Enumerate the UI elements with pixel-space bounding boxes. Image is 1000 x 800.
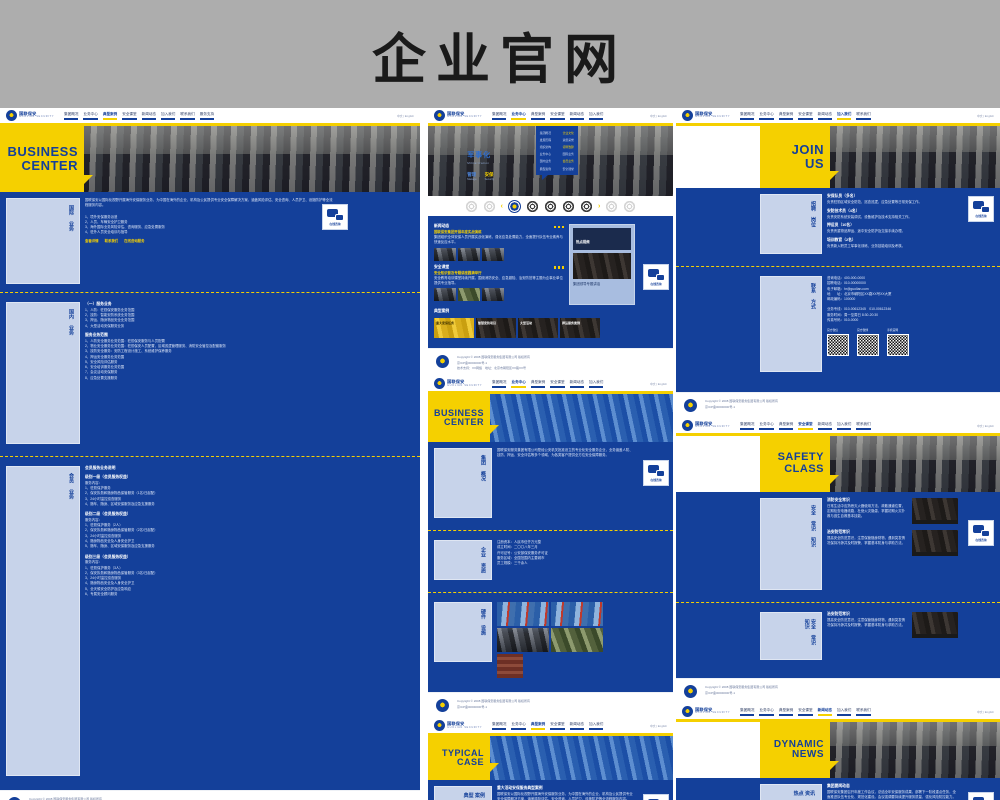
side-title: 国内 业务 bbox=[68, 309, 74, 335]
brand-subtitle: GUOLIAN SECURITY bbox=[695, 426, 730, 429]
chat-widget[interactable]: 在线咨询 bbox=[968, 196, 994, 222]
video-thumbnail[interactable] bbox=[573, 253, 631, 279]
chat-widget[interactable]: 在线咨询 bbox=[968, 792, 994, 800]
video-thumbnail[interactable]: 安全知识专题讲座 bbox=[912, 530, 958, 556]
hero-tab-line2: CENTER bbox=[22, 159, 78, 173]
footer: Copyright © 2008 国联保安服务集团有限公司 版权所有 京ICP备… bbox=[428, 348, 673, 376]
section-heading: 会员服务业务说明 bbox=[85, 466, 414, 472]
section-safety-articles: 在线咨询 安全 常识 知识 消防安全常识 日常生活中应熟悉灭火器使用方法、疏散通… bbox=[676, 492, 1000, 600]
news-section-title: 典型案例 bbox=[434, 309, 667, 315]
nav-item-4[interactable]: 新闻动态 bbox=[570, 112, 584, 120]
field-label: 传真号码 bbox=[827, 318, 841, 322]
nav-item-0[interactable]: 集团概况 bbox=[492, 380, 506, 388]
hero-tab-dynamic-news: DYNAMIC NEWS bbox=[760, 722, 830, 778]
nav-item-7[interactable]: 服务支持 bbox=[200, 112, 214, 120]
nav-item-5[interactable]: 加入我们 bbox=[161, 112, 175, 120]
emblem-badge-icon[interactable] bbox=[605, 200, 618, 213]
section-paragraph: 国联保安服务集团有限公司是经公安机关批准设立的专业化安全服务企业，业务涵盖人防、… bbox=[497, 448, 635, 459]
list-item: 6、专属安全顾问服务 bbox=[85, 592, 414, 597]
nav-item-4[interactable]: 新闻动态 bbox=[818, 708, 832, 716]
nav-item-4[interactable]: 新闻动态 bbox=[142, 112, 156, 120]
qr-code-image bbox=[827, 334, 849, 356]
nav-item-4[interactable]: 新闻动态 bbox=[570, 380, 584, 388]
chat-widget-label: 在线咨询 bbox=[975, 538, 986, 542]
nav-item-6[interactable]: 联系我们 bbox=[180, 112, 194, 120]
footer-icp: 京ICP备00000000号-1 bbox=[457, 705, 530, 709]
nav-item-5[interactable]: 加入我们 bbox=[837, 708, 851, 716]
qr-code-image bbox=[857, 334, 879, 356]
qr-block: 官方微博 bbox=[857, 328, 879, 356]
hero-image-tactical bbox=[830, 722, 1000, 778]
news-item-text: 集团组织全体安保人员开展实战化演练，强化应急处置能力，全面提升队伍专业素养与快速… bbox=[434, 235, 564, 246]
navbar: 国联保安 GUOLIAN SECURITY 集团概况 业务中心 典型案例 安全课… bbox=[676, 108, 1000, 126]
hero-banner: TYPICAL CASE bbox=[428, 736, 673, 780]
mockup-sheet: 企业官网 国联保安 GUOLIAN SECURITY 集团概况 业务中心 典型案… bbox=[0, 0, 1000, 800]
nav-item-4[interactable]: 新闻动态 bbox=[570, 722, 584, 730]
dropdown-item[interactable]: 国内业务 bbox=[540, 159, 551, 163]
dropdown-item[interactable]: 资质荣誉 bbox=[563, 138, 574, 142]
dropdown-item[interactable]: 国际业务 bbox=[563, 152, 574, 156]
section-divider bbox=[0, 290, 420, 296]
hero-tab-business-center: BUSINESS CENTER bbox=[0, 126, 84, 192]
chat-widget[interactable]: 在线咨询 bbox=[968, 520, 994, 546]
gallery-photo[interactable] bbox=[551, 628, 603, 652]
nav-item-0[interactable]: 集团概况 bbox=[492, 722, 506, 730]
mockup-column-3: 国联保安 GUOLIAN SECURITY 集团概况 业务中心 典型案例 安全课… bbox=[676, 108, 1000, 800]
section-divider bbox=[676, 264, 1000, 270]
facility-gallery bbox=[497, 602, 605, 678]
nav-item-5[interactable]: 加入我们 bbox=[589, 722, 603, 730]
chat-bubbles-icon bbox=[973, 201, 990, 213]
section-typical-case: 在线咨询 典型 案例 重大活动安保 金融押运服务案例 智慧安防工程案例 大型场馆… bbox=[428, 780, 673, 800]
footer: Copyright © 2008 国联保安服务集团有限公司 版权所有 京ICP备… bbox=[676, 678, 1000, 704]
hero-tab-line2: CENTER bbox=[444, 418, 484, 427]
hero-tab-typical-case: TYPICAL CASE bbox=[428, 736, 490, 780]
field-value: 400-000-0000 bbox=[844, 276, 865, 280]
home-content: 在线咨询 新闻动态 国联保安集团开展年度实战演练 集团组织全体安保人员开展实战化… bbox=[428, 218, 673, 348]
nav-item-1[interactable]: 业务中心 bbox=[511, 722, 525, 730]
nav-item-2[interactable]: 典型案例 bbox=[779, 708, 793, 716]
nav-item-5[interactable]: 加入我们 bbox=[837, 112, 851, 120]
chat-widget[interactable]: 在线咨询 bbox=[643, 460, 669, 486]
footer: Copyright © 2008 国联保安服务集团有限公司 版权所有 京ICP备… bbox=[0, 790, 420, 800]
field-label: 招聘电话 bbox=[827, 281, 841, 285]
news-thumbnail[interactable] bbox=[434, 248, 456, 261]
tag-link[interactable]: 联系我们 bbox=[105, 239, 119, 244]
hero-banner: BUSINESS CENTER bbox=[0, 126, 420, 192]
brand-subtitle: GUOLIAN SECURITY bbox=[695, 712, 730, 715]
nav-dropdown-menu[interactable]: 集团概况企业文化 发展历程资质荣誉 组织架构领导致辞 业务中心国际业务 国内业务… bbox=[536, 126, 578, 175]
gallery-photo[interactable] bbox=[497, 654, 523, 678]
field-label: 员工规模 bbox=[497, 561, 511, 565]
job-description: 负责新入职员工军事化训练、业务技能培训及考核。 bbox=[827, 244, 958, 249]
hero-word-2-en: Security bbox=[485, 178, 494, 181]
job-listing[interactable]: 安保队员（多名） 负责驻勤区域安全防范、巡查巡逻、应急处置等日常安保工作。 bbox=[827, 194, 958, 205]
hero-image-team bbox=[830, 126, 1000, 188]
dropdown-item[interactable]: 领导致辞 bbox=[563, 145, 574, 149]
hero-caption: 军事化 Militarization 管理 Manage 安保 Security bbox=[467, 150, 494, 181]
nav-item-3[interactable]: 安全课堂 bbox=[798, 422, 812, 430]
shield-star-logo-icon bbox=[434, 110, 445, 121]
field-value: 010-0000 bbox=[844, 318, 858, 322]
footer-icp: 京ICP备00000000号-1 bbox=[705, 691, 778, 695]
emblem-badge-icon[interactable] bbox=[465, 200, 478, 213]
nav-items: 集团概况 业务中心 典型案例 安全课堂 新闻动态 加入我们 联系我们 服务支持 bbox=[64, 112, 397, 120]
job-listing[interactable]: 培训教官（2名） 负责新入职员工军事化训练、业务技能培训及考核。 bbox=[827, 238, 958, 249]
chat-widget[interactable]: 在线咨询 bbox=[643, 794, 669, 800]
case-tile[interactable]: 大型活动 bbox=[518, 318, 558, 338]
section-recruitment: 在线咨询 招聘 岗位 安保队员（多名） 负责驻勤区域安全防范、巡查巡逻、应急处置… bbox=[676, 188, 1000, 264]
sheet-header-banner: 企业官网 bbox=[0, 0, 1000, 108]
carousel-prev-icon[interactable]: ‹ bbox=[501, 203, 503, 210]
nav-item-0[interactable]: 集团概况 bbox=[492, 112, 506, 120]
list-item: 5、随车、随身、区域安保服务及应急支援服务 bbox=[85, 544, 414, 549]
hero-banner: DYNAMIC NEWS bbox=[676, 722, 1000, 778]
language-switch[interactable]: 中文 | English bbox=[977, 114, 994, 118]
article-text: 国联保安集团召开年度工作会议，总结全年安保服务成果，部署下一阶段重点任务，全面推… bbox=[827, 790, 958, 800]
side-title-box: 招聘 岗位 bbox=[760, 194, 822, 254]
section-membership-business: 会员 业务 会员服务业务说明 级别一级（会员服务权益） 服务内容： 1、驻勤保护… bbox=[0, 460, 420, 790]
chat-bubbles-icon bbox=[648, 269, 665, 281]
nav-item-2[interactable]: 典型案例 bbox=[531, 380, 545, 388]
article-paragraph: 国联保安以国际化视野开展海外安保服务业务，为中国在海外的企业、机构及公民提供专业… bbox=[497, 792, 635, 800]
news-thumbnail[interactable] bbox=[482, 288, 504, 301]
news-block: 新闻动态 国联保安集团开展年度实战演练 集团组织全体安保人员开展实战化演练，强化… bbox=[434, 224, 564, 261]
hero-caption-main: 军事化 bbox=[467, 150, 494, 160]
brand-logo[interactable]: 国联保安 GUOLIAN SECURITY bbox=[682, 420, 730, 431]
footer-copyright: Copyright © 2008 国联保安服务集团有限公司 版权所有 bbox=[457, 699, 530, 703]
nav-item-1[interactable]: 业务中心 bbox=[759, 708, 773, 716]
hero-image-guards bbox=[84, 126, 420, 192]
hero-tab-line2: CASE bbox=[457, 758, 484, 767]
case-tile-label: 大型活动 bbox=[520, 321, 532, 325]
footer-support: 技术支持：XX网络 地址：北京市朝阳区XX路XX号 bbox=[457, 366, 530, 370]
nav-item-0[interactable]: 集团概况 bbox=[64, 112, 78, 120]
brand-logo[interactable]: 国联保安 GUOLIAN SECURITY bbox=[6, 110, 54, 121]
section-paragraph: 国联保安以国际化视野开展海外安保服务业务，为中国在海外的企业、机构及公民提供专业… bbox=[85, 198, 334, 209]
nav-item-5[interactable]: 加入我们 bbox=[837, 422, 851, 430]
field-value: 010-00000000 bbox=[844, 281, 866, 285]
navbar: 国联保安 GUOLIAN SECURITY 集团概况 业务中心 典型案例 安全课… bbox=[428, 376, 673, 394]
language-switch[interactable]: 中文 | English bbox=[650, 724, 667, 728]
footer: Copyright © 2008 国联保安服务集团有限公司 版权所有 京ICP备… bbox=[428, 692, 673, 718]
shield-star-logo-icon bbox=[682, 420, 693, 431]
nav-item-5[interactable]: 加入我们 bbox=[589, 112, 603, 120]
gallery-photo[interactable] bbox=[551, 602, 603, 626]
case-tile[interactable]: 重大安保任务 bbox=[434, 318, 474, 338]
tag-link[interactable]: 在线咨询服务 bbox=[124, 239, 144, 244]
footer-logo-icon bbox=[436, 699, 449, 712]
field-value: 全国范围内主要城市 bbox=[514, 556, 545, 560]
section-contact: 联系 方式 咨询电话：400-000-0000 招聘电话：010-0000000… bbox=[676, 270, 1000, 392]
video-thumbnail[interactable] bbox=[912, 498, 958, 524]
footer-copyright: Copyright © 2008 国联保安服务集团有限公司 版权所有 bbox=[705, 685, 778, 689]
shield-star-logo-icon bbox=[434, 378, 445, 389]
hero-tab-line2: US bbox=[805, 157, 824, 171]
job-listing[interactable]: 押运员（10名） 负责贵重物品押运、途中安全防护及交接手续办理。 bbox=[827, 223, 958, 234]
chat-widget-label: 在线咨询 bbox=[975, 214, 986, 218]
case-tile[interactable]: 智慧安防项目 bbox=[476, 318, 516, 338]
nav-item-3[interactable]: 安全课堂 bbox=[550, 380, 564, 388]
nav-item-2[interactable]: 典型案例 bbox=[531, 112, 545, 120]
list-item: 4、驻外人员安全培训与指导 bbox=[85, 230, 334, 235]
news-side-menu: 热点 资讯 集团要闻动态 行业资讯 通知公告信息 媒体报道专题 党建工作 bbox=[760, 784, 822, 800]
nav-item-1[interactable]: 业务中心 bbox=[759, 422, 773, 430]
article-text: 日常生活中应熟悉灭火器使用方法、疏散通道位置，定期检查电器线路，杜绝火灾隐患，掌… bbox=[827, 504, 907, 520]
side-title: 集团 概况 bbox=[480, 455, 486, 481]
nav-item-2[interactable]: 典型案例 bbox=[779, 112, 793, 120]
field-value: 北京市朝阳区XX路XX号XX大厦 bbox=[844, 292, 891, 296]
section-facilities: 硬件 设施 bbox=[428, 596, 673, 692]
video-thumbnail[interactable] bbox=[912, 612, 958, 638]
job-description: 负责安防系统安装调试、设备维护及技术支持相关工作。 bbox=[827, 215, 958, 220]
nav-item-1[interactable]: 业务中心 bbox=[511, 380, 525, 388]
chat-widget-label: 在线咨询 bbox=[650, 282, 661, 286]
qr-block: 官方微信 bbox=[827, 328, 849, 356]
gallery-photo[interactable] bbox=[497, 628, 549, 652]
dropdown-item[interactable]: 发展历程 bbox=[540, 138, 551, 142]
footer-icp: 京ICP备00000000号-1 bbox=[457, 361, 530, 365]
job-listing[interactable]: 安防技术员（4名） 负责安防系统安装调试、设备维护及技术支持相关工作。 bbox=[827, 209, 958, 220]
news-section-title: 安全课堂 bbox=[434, 265, 449, 271]
field-label: 许可证号 bbox=[497, 551, 511, 555]
dropdown-item[interactable]: 业务中心 bbox=[540, 152, 551, 156]
emblem-badge-icon-active[interactable] bbox=[508, 200, 521, 213]
hero-tab-line2: CLASS bbox=[784, 464, 824, 476]
badge-carousel[interactable]: ‹ › bbox=[428, 196, 673, 218]
side-title-box: 联系 方式 bbox=[760, 276, 822, 372]
emblem-badge-icon[interactable] bbox=[623, 200, 636, 213]
brand-logo[interactable]: 国联保安 GUOLIAN SECURITY bbox=[434, 378, 482, 389]
panel-caption: 集团领导专题讲话 bbox=[573, 282, 631, 287]
side-menu-title: 典型 案例 bbox=[435, 791, 491, 800]
hero-word-1-en: Manage bbox=[467, 178, 476, 181]
brand-logo[interactable]: 国联保安 GUOLIAN SECURITY bbox=[434, 110, 482, 121]
hero-image-training bbox=[830, 436, 1000, 492]
brand-logo[interactable]: 国联保安 GUOLIAN SECURITY bbox=[682, 110, 730, 121]
footer-logo-icon bbox=[684, 399, 697, 412]
footer-icp: 京ICP备00000000号-1 bbox=[705, 405, 778, 409]
dropdown-item[interactable]: 安全课堂 bbox=[563, 167, 574, 171]
dropdown-item[interactable]: 会员业务 bbox=[563, 159, 574, 163]
section-domestic-business: 国内 业务 （一）服务业务 1、人防：驻勤保安服务业务范围 2、技防：智能安防系… bbox=[0, 296, 420, 454]
brand-subtitle: GUOLIAN SECURITY bbox=[447, 727, 482, 730]
brand-subtitle: GUOLIAN SECURITY bbox=[447, 385, 482, 388]
nav-item-6[interactable]: 联系我们 bbox=[856, 422, 870, 430]
nav-item-0[interactable]: 集团概况 bbox=[740, 422, 754, 430]
dropdown-item[interactable]: 企业文化 bbox=[563, 131, 574, 135]
case-tile-label: 重大安保任务 bbox=[436, 321, 454, 325]
news-block: 安全课堂 安全知识普及专题讲座圆满举行 安全教育培训课堂持续开展，围绕消防安全、… bbox=[434, 265, 564, 302]
nav-item-4[interactable]: 新闻动态 bbox=[818, 422, 832, 430]
qr-caption: 官方微博 bbox=[857, 328, 879, 332]
news-thumbnail[interactable] bbox=[458, 248, 480, 261]
nav-item-4[interactable]: 新闻动态 bbox=[818, 112, 832, 120]
case-tile-label: 智慧安防项目 bbox=[478, 321, 496, 325]
dropdown-item[interactable]: 集团概况 bbox=[540, 131, 551, 135]
case-tile-label: 押运服务案例 bbox=[562, 321, 580, 325]
footer-logo-icon bbox=[684, 685, 697, 698]
nav-item-3[interactable]: 安全课堂 bbox=[550, 722, 564, 730]
emblem-badge-icon[interactable] bbox=[526, 200, 539, 213]
field-label: 地 址 bbox=[827, 292, 841, 296]
side-title: 企业 资质 bbox=[480, 547, 486, 573]
more-dots-icon[interactable] bbox=[554, 266, 565, 269]
tag-link[interactable]: 查看详情 bbox=[85, 239, 99, 244]
side-title-box: 企业 资质 bbox=[434, 540, 492, 580]
navbar: 国联保安 GUOLIAN SECURITY 集团概况 业务中心 典型案例 安全课… bbox=[428, 108, 673, 126]
chat-widget-label: 在线咨询 bbox=[650, 478, 661, 482]
field-value: 010-00612345 010-00612346 bbox=[844, 307, 891, 311]
section-international-business: 在线咨询 国际 业务 国联保安以国际化视野开展海外安保服务业务，为中国在海外的企… bbox=[0, 192, 420, 290]
article-text: 提高安全防范意识，注意保管随身财物，遇到突发情况保持冷静并及时报警，掌握基本防身… bbox=[827, 618, 907, 629]
more-dots-icon[interactable] bbox=[554, 226, 565, 229]
carousel-next-icon[interactable]: › bbox=[598, 203, 600, 210]
field-value: hr@guolian.com bbox=[844, 287, 869, 291]
language-switch[interactable]: 中文 | English bbox=[977, 424, 994, 428]
chat-bubbles-icon bbox=[648, 465, 665, 477]
hot-video-panel: 热点视频 集团领导专题讲话 bbox=[569, 224, 635, 305]
section-safety-more: 安全 常识 知识 治安防范常识 提高安全防范意识，注意保管随身财物，遇到突发情况… bbox=[676, 606, 1000, 678]
qr-caption: 官方微信 bbox=[827, 328, 849, 332]
nav-item-2[interactable]: 典型案例 bbox=[531, 722, 545, 730]
footer-logo-icon bbox=[436, 355, 449, 368]
case-side-menu: 典型 案例 重大活动安保 金融押运服务案例 智慧安防工程案例 大型场馆安保案例 … bbox=[434, 786, 492, 800]
nav-item-6[interactable]: 联系我们 bbox=[856, 112, 870, 120]
nav-item-0[interactable]: 集团概况 bbox=[740, 708, 754, 716]
section-divider bbox=[0, 454, 420, 460]
field-value: 100000 bbox=[844, 297, 855, 301]
footer: Copyright © 2008 国联保安服务集团有限公司 版权所有 京ICP备… bbox=[676, 392, 1000, 418]
dropdown-item[interactable]: 典型案例 bbox=[540, 167, 551, 171]
side-title-box: 国际 业务 bbox=[6, 198, 80, 284]
job-description: 负责驻勤区域安全防范、巡查巡逻、应急处置等日常安保工作。 bbox=[827, 200, 958, 205]
language-switch[interactable]: 中文 | English bbox=[650, 382, 667, 386]
hero-image-building bbox=[490, 394, 673, 442]
article-text: 提高安全防范意识，注意保管随身财物，遇到突发情况保持冷静并及时报警，掌握基本防身… bbox=[827, 536, 907, 547]
qr-caption: 手机官网 bbox=[887, 328, 909, 332]
news-thumbnail[interactable] bbox=[434, 288, 456, 301]
language-switch[interactable]: 中文 | English bbox=[397, 114, 414, 118]
footer-copyright: Copyright © 2008 国联保安服务集团有限公司 版权所有 bbox=[705, 399, 778, 403]
nav-item-1[interactable]: 业务中心 bbox=[83, 112, 97, 120]
nav-item-2[interactable]: 典型案例 bbox=[103, 112, 117, 120]
nav-item-3[interactable]: 安全课堂 bbox=[550, 112, 564, 120]
side-title: 安全 常识 知识 bbox=[804, 619, 817, 653]
navbar: 国联保安 GUOLIAN SECURITY 集团概况 业务中心 典型案例 安全课… bbox=[428, 718, 673, 736]
hero-image-facility bbox=[490, 736, 673, 780]
shield-star-logo-icon bbox=[682, 110, 693, 121]
hero-banner: JOIN US bbox=[676, 126, 1000, 188]
hero-slider: 军事化 Militarization 管理 Manage 安保 Security bbox=[428, 126, 673, 196]
hero-caption-sub: Militarization bbox=[467, 161, 494, 165]
side-title: 安全 常识 知识 bbox=[810, 505, 816, 547]
shield-star-logo-icon bbox=[434, 720, 445, 731]
field-label: 业务专线 bbox=[827, 307, 841, 311]
field-label: 注册资本 bbox=[497, 540, 511, 544]
brand-logo[interactable]: 国联保安 GUOLIAN SECURITY bbox=[434, 720, 482, 731]
nav-item-1[interactable]: 业务中心 bbox=[511, 112, 525, 120]
case-tile[interactable]: 押运服务案例 bbox=[560, 318, 600, 338]
field-label: 成立时间 bbox=[497, 545, 511, 549]
section-group-overview: 在线咨询 集团 概况 国联保安服务集团有限公司是经公安机关批准设立的专业化安全服… bbox=[428, 442, 673, 528]
qr-block: 手机官网 bbox=[887, 328, 909, 356]
nav-item-2[interactable]: 典型案例 bbox=[779, 422, 793, 430]
side-title: 会员 业务 bbox=[68, 473, 74, 499]
navbar: 国联保安 GUOLIAN SECURITY 集团概况 业务中心 典型案例 安全课… bbox=[0, 108, 420, 126]
dropdown-item[interactable]: 组织架构 bbox=[540, 145, 551, 149]
news-thumbnail[interactable] bbox=[482, 248, 504, 261]
gallery-photo[interactable] bbox=[497, 602, 549, 626]
side-title-box: 安全 常识 知识 bbox=[760, 498, 822, 590]
field-value: 公安部保安服务许可证 bbox=[514, 551, 548, 555]
shield-star-logo-icon bbox=[6, 110, 17, 121]
field-value: 人民币伍仟万元整 bbox=[514, 540, 541, 544]
side-title-box: 集团 概况 bbox=[434, 448, 492, 518]
nav-item-6[interactable]: 联系我们 bbox=[856, 708, 870, 716]
footer-copyright: Copyright © 2008 国联保安服务集团有限公司 版权所有 bbox=[457, 355, 530, 359]
panel-title: 热点视频 bbox=[576, 240, 590, 244]
language-switch[interactable]: 中文 | English bbox=[650, 114, 667, 118]
nav-item-5[interactable]: 加入我们 bbox=[589, 380, 603, 388]
field-label: 咨询电话 bbox=[827, 276, 841, 280]
nav-item-3[interactable]: 安全课堂 bbox=[122, 112, 136, 120]
chat-widget[interactable]: 在线咨询 bbox=[322, 204, 348, 230]
nav-item-3[interactable]: 安全课堂 bbox=[798, 112, 812, 120]
job-description: 负责贵重物品押运、途中安全防护及交接手续办理。 bbox=[827, 229, 958, 234]
news-thumbnail[interactable] bbox=[458, 288, 480, 301]
chat-widget-label: 在线咨询 bbox=[329, 222, 340, 226]
emblem-badge-icon[interactable] bbox=[562, 200, 575, 213]
hero-tab-line1: BUSINESS bbox=[8, 145, 78, 159]
field-label: 服务区域 bbox=[497, 556, 511, 560]
list-item: 4、随车、随身、区域安保服务及应急支援服务 bbox=[85, 502, 414, 507]
nav-item-3[interactable]: 安全课堂 bbox=[798, 708, 812, 716]
side-title-box: 国内 业务 bbox=[6, 302, 80, 444]
field-value: 二〇〇八年三月 bbox=[514, 545, 538, 549]
navbar: 国联保安 GUOLIAN SECURITY 集团概况 业务中心 典型案例 安全课… bbox=[676, 704, 1000, 722]
brand-subtitle: GUOLIAN SECURITY bbox=[19, 116, 54, 119]
chat-widget[interactable]: 在线咨询 bbox=[643, 264, 669, 290]
emblem-badge-icon[interactable] bbox=[544, 200, 557, 213]
field-value: 周一至周日 8:30-20:30 bbox=[844, 313, 878, 317]
navbar: 国联保安 GUOLIAN SECURITY 集团概况 业务中心 典型案例 安全课… bbox=[676, 418, 1000, 436]
field-label: 服务时间 bbox=[827, 313, 841, 317]
language-switch[interactable]: 中文 | English bbox=[977, 710, 994, 714]
section-news-list: 在线咨询 热点 资讯 集团要闻动态 行业资讯 通知公告信息 媒体报道专题 党建工… bbox=[676, 778, 1000, 800]
mockup-column-2: 国联保安 GUOLIAN SECURITY 集团概况 业务中心 典型案例 安全课… bbox=[428, 108, 673, 800]
shield-star-logo-icon bbox=[682, 706, 693, 717]
hero-tab-safety-class: SAFETY CLASS bbox=[760, 436, 830, 492]
emblem-badge-icon[interactable] bbox=[580, 200, 593, 213]
field-value: 三千余人 bbox=[514, 561, 528, 565]
side-title: 招聘 岗位 bbox=[810, 201, 816, 227]
nav-item-0[interactable]: 集团概况 bbox=[740, 112, 754, 120]
section-qualification: 企业 资质 注册资本：人民币伍仟万元整 成立时间：二〇〇八年三月 许可证号：公安… bbox=[428, 534, 673, 590]
hero-banner: BUSINESS CENTER bbox=[428, 394, 673, 442]
mockup-column-1: 国联保安 GUOLIAN SECURITY 集团概况 业务中心 典型案例 安全课… bbox=[0, 108, 420, 800]
section-divider bbox=[428, 590, 673, 596]
hero-tab-business-center: BUSINESS CENTER bbox=[428, 394, 490, 442]
hero-banner: SAFETY CLASS bbox=[676, 436, 1000, 492]
field-label: 邮政编码 bbox=[827, 297, 841, 301]
emblem-badge-icon[interactable] bbox=[483, 200, 496, 213]
nav-item-1[interactable]: 业务中心 bbox=[759, 112, 773, 120]
news-item-text: 安全教育培训课堂持续开展，围绕消防安全、应急避险、治安防范等主题为企事业单位提供… bbox=[434, 276, 564, 287]
side-title: 国际 业务 bbox=[68, 205, 74, 231]
brand-logo[interactable]: 国联保安 GUOLIAN SECURITY bbox=[682, 706, 730, 717]
side-title-box: 安全 常识 知识 bbox=[760, 612, 822, 660]
